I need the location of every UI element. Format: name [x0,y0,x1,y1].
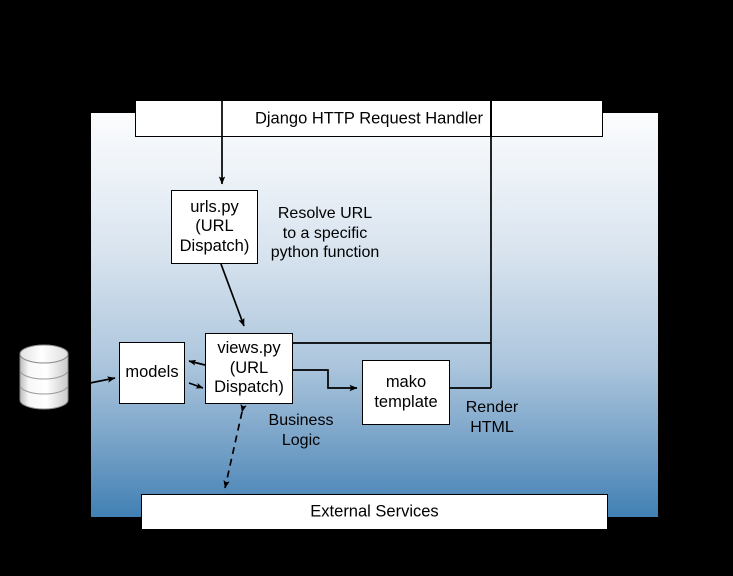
connector-views-to-mako [293,370,357,388]
connector-database-to-models [80,378,115,385]
connector-views-to-models [189,361,205,365]
connector-urls-to-views [221,264,244,326]
connector-overlay [0,0,733,576]
connector-views-external-services [225,412,242,488]
connector-models-to-views [189,383,203,388]
diagram-canvas: Django HTTP Request Handler urls.py (URL… [0,0,733,576]
